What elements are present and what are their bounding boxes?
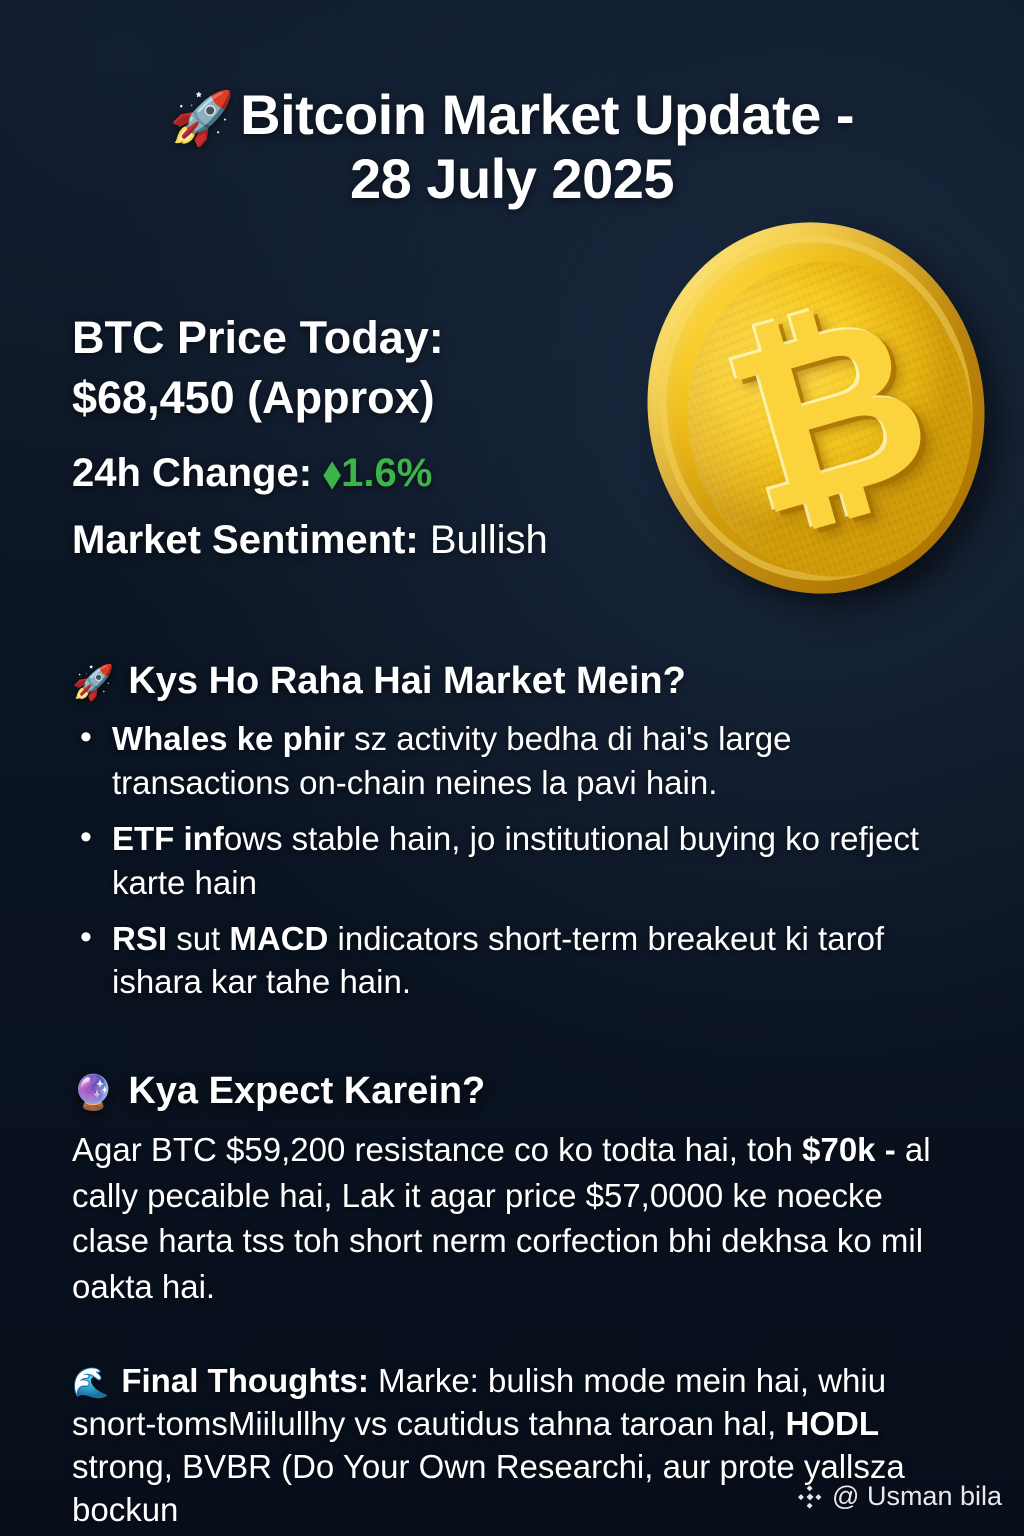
btc-price-row: BTC Price Today: $68,450 (Approx)	[72, 308, 672, 429]
rocket-icon: 🚀	[72, 664, 114, 702]
btc-price-label: BTC Price Today:	[72, 308, 672, 368]
list-item: ETF infows stable hain, jo institutional…	[72, 817, 952, 905]
crystal-ball-icon: 🔮	[72, 1074, 114, 1112]
poster-canvas: ₿ 🚀Bitcoin Market Update - 28 July 2025 …	[0, 0, 1024, 1536]
market-section: 🚀Kys Ho Raha Hai Market Mein? Whales ke …	[72, 660, 952, 1016]
expect-section: 🔮Kya Expect Karein? Agar BTC $59,200 res…	[72, 1070, 952, 1309]
bitcoin-coin-image: ₿	[648, 222, 998, 610]
expect-para-bold: $70k -	[802, 1131, 896, 1168]
rocket-icon: 🚀	[170, 90, 234, 148]
market-section-heading: 🚀Kys Ho Raha Hai Market Mein?	[72, 660, 952, 703]
title-line-2: 28 July 2025	[350, 147, 674, 210]
change-label: 24h Change:	[72, 451, 312, 495]
sentiment-row: Market Sentiment: Bullish	[72, 518, 672, 563]
title-line-1: Bitcoin Market Update -	[240, 83, 854, 146]
expect-heading-text: Kya Expect Karein?	[128, 1070, 485, 1112]
coin-face: ₿	[665, 241, 995, 598]
final-thoughts-text-2: strong, BVBR (Do Your Own Researchi, aur…	[72, 1448, 905, 1528]
list-item: RSI sut MACD indicators short-term break…	[72, 917, 952, 1005]
bullet-1-bold: Whales ke phir	[112, 720, 345, 757]
list-item: Whales ke phir sz activity bedha di hai'…	[72, 717, 952, 805]
bullet-2-rest: ows stable hain, jo institutional buying…	[112, 820, 919, 901]
expect-para-part-1: Agar BTC $59,200 resistance co ko todta …	[72, 1131, 793, 1168]
bullet-3-bold-rsi: RSI	[112, 920, 167, 957]
bullet-1-glyph: sz	[354, 720, 387, 757]
bullet-3-rest: indicators short-term breakeut ki tarof …	[112, 920, 884, 1001]
btc-price-value: $68,450 (Approx)	[72, 368, 672, 428]
bullet-2-bold: ETF inf	[112, 820, 224, 857]
final-thoughts-label: Final Thoughts:	[121, 1362, 368, 1399]
expect-section-heading: 🔮Kya Expect Karein?	[72, 1070, 952, 1113]
sentiment-label: Market Sentiment:	[72, 518, 419, 562]
watermark-handle: @ Usman bila	[832, 1481, 1002, 1512]
final-thoughts-hodl: HODL	[786, 1405, 880, 1442]
wave-icon: 🌊	[72, 1367, 109, 1400]
watermark: @ Usman bila	[797, 1481, 1002, 1512]
bullet-3-mid: sut	[176, 920, 220, 957]
change-value: 1.6%	[341, 451, 432, 495]
market-heading-text: Kys Ho Raha Hai Market Mein?	[128, 660, 685, 702]
change-row: 24h Change: ⬧1.6%	[72, 451, 672, 496]
stats-block: BTC Price Today: $68,450 (Approx) 24h Ch…	[72, 308, 672, 563]
page-title: 🚀Bitcoin Market Update - 28 July 2025	[72, 84, 952, 211]
diamond-cluster-icon	[797, 1484, 823, 1510]
market-bullet-list: Whales ke phir sz activity bedha di hai'…	[72, 717, 952, 1004]
sentiment-value: Bullish	[430, 518, 548, 562]
expect-paragraph: Agar BTC $59,200 resistance co ko todta …	[72, 1127, 952, 1309]
up-arrow-icon: ⬧	[323, 451, 341, 495]
bullet-3-bold-macd: MACD	[229, 920, 328, 957]
